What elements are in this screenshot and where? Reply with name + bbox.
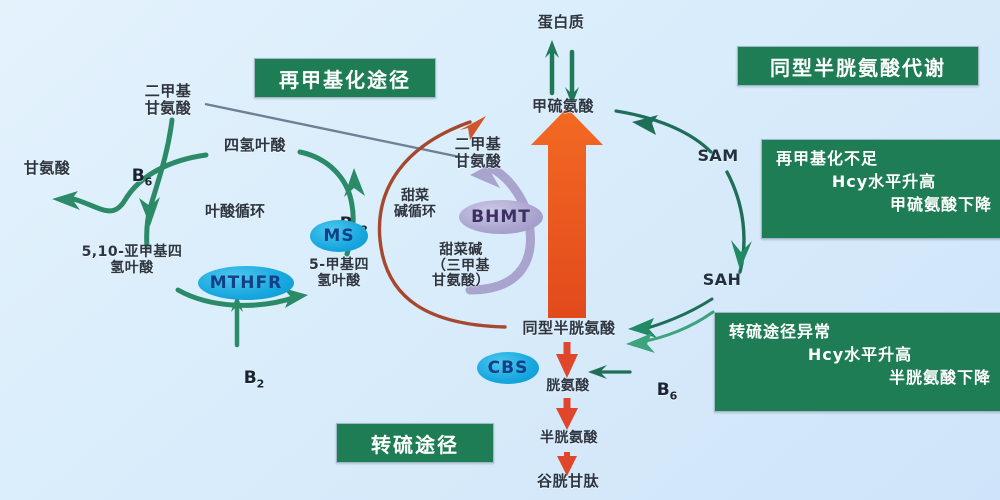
label-methyl-thf: 5-甲基四 氢叶酸 (296, 258, 382, 289)
b6-left-letter: B (132, 166, 145, 186)
label-betaine: 甜菜碱 （三甲基 甘氨酸） (418, 243, 504, 290)
label-dimethylglycine-center: 二甲基 甘氨酸 (440, 136, 516, 170)
label-methionine: 甲硫氨酸 (513, 98, 613, 115)
label-protein: 蛋白质 (525, 14, 597, 31)
label-b6-left: B6 (108, 148, 142, 208)
enzyme-ms-label: MS (323, 226, 354, 246)
note-remethylation-line3: 甲硫氨酸下降 (776, 193, 992, 216)
b6-right-sub: 6 (670, 389, 678, 402)
enzyme-bhmt: BHMT (459, 200, 543, 234)
arrow-cystathionine-to-cysteine (556, 398, 578, 430)
arrow-hcy-to-cystathionine (556, 342, 578, 378)
note-remethylation-line1: 再甲基化不足 (776, 147, 992, 170)
enzyme-mthfr: MTHFR (198, 266, 294, 300)
label-folate-cycle: 叶酸循环 (190, 203, 280, 220)
label-glycine: 甘氨酸 (10, 160, 84, 177)
label-b6-right: B6 (633, 362, 667, 422)
label-cysteine: 半胱氨酸 (524, 431, 614, 447)
diagram-canvas: 再甲基化途径 同型半胱氨酸代谢 转硫途径 再甲基化不足 Hcy水平升高 甲硫氨酸… (0, 0, 1000, 500)
label-glutathione: 谷胱甘肽 (522, 473, 614, 490)
arrow-b2 (231, 294, 243, 345)
note-remethylation-deficit: 再甲基化不足 Hcy水平升高 甲硫氨酸下降 (761, 139, 1000, 239)
note-remethylation-line2: Hcy水平升高 (776, 170, 992, 193)
enzyme-bhmt-label: BHMT (471, 207, 531, 227)
label-dimethylglycine-left: 二甲基 甘氨酸 (130, 83, 206, 117)
note-transsulfuration-line3: 半胱氨酸下降 (729, 366, 991, 389)
label-methylene-thf: 5,10-亚甲基四 氢叶酸 (66, 245, 198, 276)
enzyme-cbs-label: CBS (488, 358, 529, 378)
b6-left-sub: 6 (145, 175, 153, 188)
arrow-sam-to-sah (727, 172, 752, 272)
arrow-b6-right (588, 365, 630, 379)
enzyme-ms: MS (310, 220, 368, 252)
label-b2: B2 (220, 350, 256, 410)
b6-right-letter: B (657, 380, 670, 400)
label-sah: SAH (694, 271, 750, 289)
label-homocysteine: 同型半胱氨酸 (496, 320, 642, 337)
note-transsulfuration-line2: Hcy水平升高 (729, 343, 991, 366)
enzyme-mthfr-label: MTHFR (210, 273, 282, 293)
note-transsulfuration-abnormal: 转硫途径异常 Hcy水平升高 半胱氨酸下降 (714, 312, 1000, 412)
label-sam: SAM (690, 147, 746, 165)
b2-letter: B (244, 368, 257, 388)
arrow-protein-methionine (545, 40, 579, 105)
label-cystathionine: 胱氨酸 (530, 379, 606, 395)
title-remethylation-text: 再甲基化途径 (279, 64, 411, 93)
note-transsulfuration-line1: 转硫途径异常 (729, 320, 991, 343)
title-remethylation-pathway: 再甲基化途径 (254, 58, 436, 98)
label-tetrahydrofolate: 四氢叶酸 (208, 137, 302, 154)
title-hcy-metabolism-text: 同型半胱氨酸代谢 (770, 52, 946, 81)
enzyme-cbs: CBS (477, 352, 539, 384)
title-hcy-metabolism: 同型半胱氨酸代谢 (737, 46, 979, 86)
title-transsulfuration-text: 转硫途径 (371, 429, 459, 458)
title-transsulfuration-pathway: 转硫途径 (336, 423, 494, 463)
b2-sub: 2 (257, 377, 265, 390)
label-betaine-cycle: 甜菜 碱循环 (393, 189, 437, 220)
